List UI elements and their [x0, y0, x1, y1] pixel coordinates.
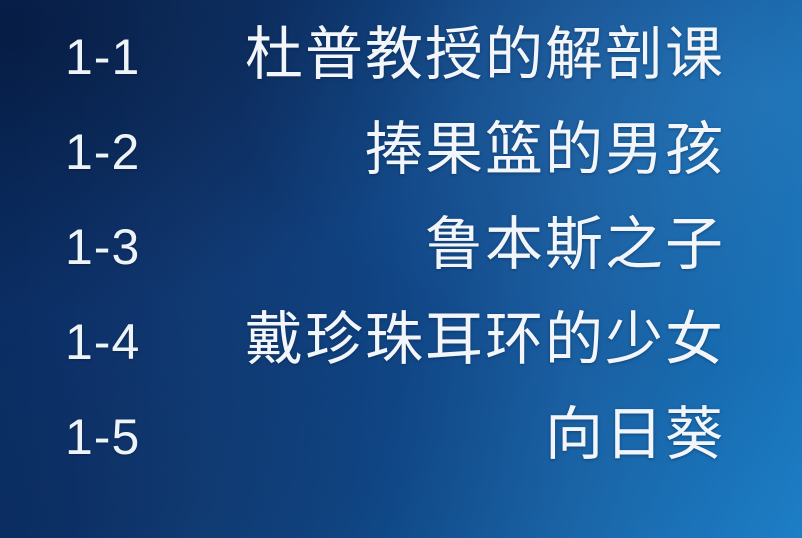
chapter-title: 捧果篮的男孩: [140, 121, 725, 179]
list-item[interactable]: 1-3 鲁本斯之子: [65, 216, 725, 311]
chapter-number: 1-4: [65, 317, 140, 367]
chapter-title: 戴珍珠耳环的少女: [140, 311, 725, 369]
chapter-title: 向日葵: [140, 406, 725, 464]
chapter-list-slide: 1-1 杜普教授的解剖课 1-2 捧果篮的男孩 1-3 鲁本斯之子 1-4 戴珍…: [0, 0, 802, 538]
chapter-number: 1-5: [65, 412, 140, 462]
chapter-number: 1-3: [65, 222, 140, 272]
chapter-title: 鲁本斯之子: [140, 216, 725, 274]
list-item[interactable]: 1-2 捧果篮的男孩: [65, 121, 725, 216]
chapter-number: 1-1: [65, 32, 140, 82]
chapter-list: 1-1 杜普教授的解剖课 1-2 捧果篮的男孩 1-3 鲁本斯之子 1-4 戴珍…: [0, 0, 802, 501]
list-item[interactable]: 1-4 戴珍珠耳环的少女: [65, 311, 725, 406]
list-item[interactable]: 1-5 向日葵: [65, 406, 725, 501]
list-item[interactable]: 1-1 杜普教授的解剖课: [65, 26, 725, 121]
chapter-title: 杜普教授的解剖课: [140, 26, 725, 84]
chapter-number: 1-2: [65, 127, 140, 177]
